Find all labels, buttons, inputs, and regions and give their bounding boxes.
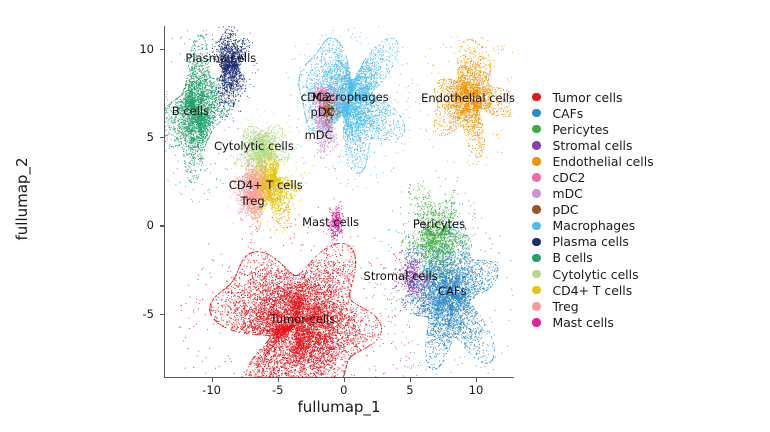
legend-label: CD4+ T cells — [553, 283, 633, 298]
legend-item-mdc[interactable]: mDC — [532, 186, 654, 202]
x-tick-label: 0 — [340, 383, 347, 397]
x-tick-mark — [212, 378, 213, 382]
legend-swatch-icon — [532, 141, 541, 150]
legend-swatch-icon — [532, 109, 541, 118]
legend-item-b-cells[interactable]: B cells — [532, 250, 654, 266]
y-tick-mark — [160, 225, 164, 226]
legend-item-cytolytic-cells[interactable]: Cytolytic cells — [532, 266, 654, 282]
legend-swatch-icon — [532, 270, 541, 279]
legend-swatch-icon — [532, 93, 541, 102]
legend-label: Stromal cells — [553, 138, 633, 153]
y-tick-label: -5 — [110, 307, 154, 321]
x-tick-mark — [344, 378, 345, 382]
legend-item-pericytes[interactable]: Pericytes — [532, 121, 654, 137]
y-tick-mark — [160, 314, 164, 315]
legend-item-cd4-t-cells[interactable]: CD4+ T cells — [532, 282, 654, 298]
scatter-point-cloud — [164, 26, 513, 377]
legend-label: Treg — [553, 299, 579, 314]
legend-label: Tumor cells — [553, 90, 623, 105]
legend-swatch-icon — [532, 286, 541, 295]
legend-item-cafs[interactable]: CAFs — [532, 105, 654, 121]
legend-item-stromal-cells[interactable]: Stromal cells — [532, 137, 654, 153]
y-tick-label: 5 — [110, 130, 154, 144]
legend-label: CAFs — [553, 106, 584, 121]
y-tick-mark — [160, 49, 164, 50]
legend-label: cDC2 — [553, 170, 586, 185]
scatter-plot-area[interactable]: Tumor cellsCAFsPericytesStromal cellsEnd… — [164, 26, 513, 377]
legend-item-cdc2[interactable]: cDC2 — [532, 169, 654, 185]
x-axis-title: fullumap_1 — [164, 398, 514, 416]
x-tick-label: -5 — [272, 383, 283, 397]
legend-item-mast-cells[interactable]: Mast cells — [532, 314, 654, 330]
legend-swatch-icon — [532, 157, 541, 166]
y-axis-title: fullumap_2 — [13, 109, 31, 289]
y-tick-mark — [160, 137, 164, 138]
legend-label: Pericytes — [553, 122, 609, 137]
legend-item-pdc[interactable]: pDC — [532, 202, 654, 218]
x-axis-spine — [164, 377, 514, 378]
legend-swatch-icon — [532, 222, 541, 231]
legend-label: B cells — [553, 250, 593, 265]
legend-swatch-icon — [532, 238, 541, 247]
legend-label: mDC — [553, 186, 583, 201]
x-tick-label: 10 — [469, 383, 484, 397]
y-tick-label: 10 — [110, 42, 154, 56]
legend-label: Endothelial cells — [553, 154, 654, 169]
legend-swatch-icon — [532, 205, 541, 214]
legend-label: Mast cells — [553, 315, 614, 330]
legend-label: Plasma cells — [553, 234, 629, 249]
legend-label: Cytolytic cells — [553, 267, 639, 282]
x-tick-mark — [278, 378, 279, 382]
legend-item-tumor-cells[interactable]: Tumor cells — [532, 89, 654, 105]
legend-item-treg[interactable]: Treg — [532, 298, 654, 314]
umap-figure: Tumor cellsCAFsPericytesStromal cellsEnd… — [0, 0, 770, 432]
legend-item-endothelial-cells[interactable]: Endothelial cells — [532, 153, 654, 169]
y-axis-spine — [164, 26, 165, 378]
legend-label: Macrophages — [553, 218, 636, 233]
y-tick-label: 0 — [110, 218, 154, 232]
legend[interactable]: Tumor cellsCAFsPericytesStromal cellsEnd… — [532, 89, 654, 330]
legend-swatch-icon — [532, 318, 541, 327]
x-tick-mark — [476, 378, 477, 382]
legend-swatch-icon — [532, 173, 541, 182]
legend-swatch-icon — [532, 125, 541, 134]
legend-label: pDC — [553, 202, 579, 217]
legend-item-plasma-cells[interactable]: Plasma cells — [532, 234, 654, 250]
legend-item-macrophages[interactable]: Macrophages — [532, 218, 654, 234]
x-tick-mark — [410, 378, 411, 382]
legend-swatch-icon — [532, 254, 541, 263]
legend-swatch-icon — [532, 189, 541, 198]
x-tick-label: 5 — [406, 383, 413, 397]
x-tick-label: -10 — [202, 383, 221, 397]
legend-swatch-icon — [532, 302, 541, 311]
